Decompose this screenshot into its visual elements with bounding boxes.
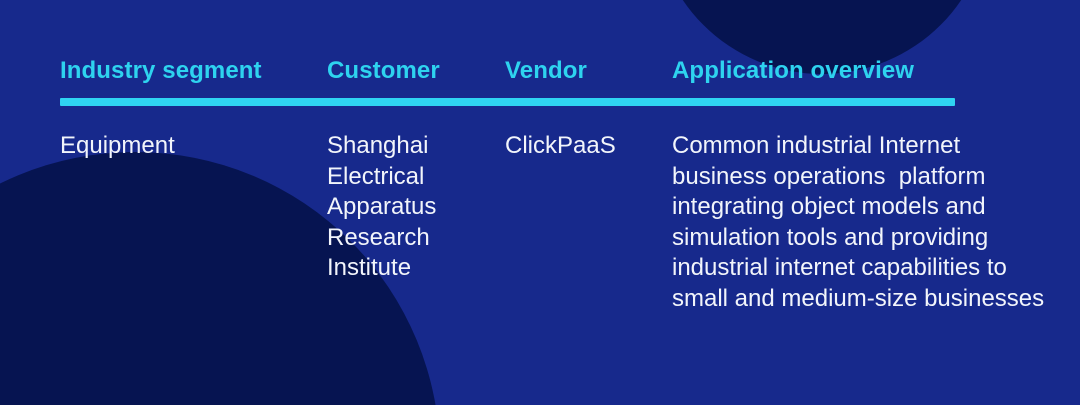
cell-application-overview: Common industrial Internet business oper… (672, 131, 1060, 314)
header-underline-rule (60, 98, 955, 106)
cell-vendor: ClickPaaS (505, 131, 672, 162)
cell-industry-segment: Equipment (60, 131, 327, 162)
table-row: Equipment Shanghai Electrical Apparatus … (60, 131, 1060, 314)
cell-customer: Shanghai Electrical Apparatus Research I… (327, 131, 505, 284)
slide-canvas: Industry segment Customer Vendor Applica… (0, 0, 1080, 405)
comparison-table: Industry segment Customer Vendor Applica… (0, 0, 1080, 405)
column-header-industry-segment: Industry segment (60, 57, 327, 85)
column-header-vendor: Vendor (505, 57, 672, 85)
column-header-application-overview: Application overview (672, 57, 1060, 85)
table-header-row: Industry segment Customer Vendor Applica… (60, 57, 1060, 85)
column-header-customer: Customer (327, 57, 505, 85)
